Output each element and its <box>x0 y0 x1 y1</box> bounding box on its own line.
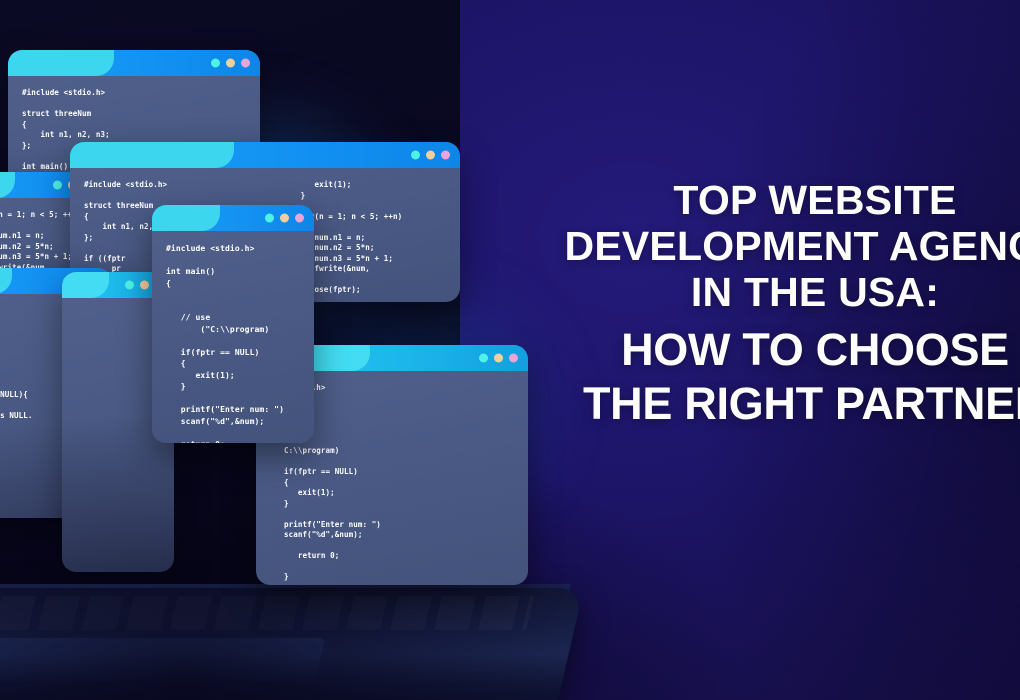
window-controls[interactable] <box>479 354 518 363</box>
window-titlebar[interactable] <box>152 205 314 231</box>
maximize-dot-icon[interactable] <box>441 151 450 160</box>
minimize-dot-icon[interactable] <box>140 281 149 290</box>
maximize-dot-icon[interactable] <box>241 59 250 68</box>
page-title: TOP WEBSITE DEVELOPMENT AGENCY IN THE US… <box>515 178 1020 430</box>
code-text: #include <stdio.h> int main() { // use (… <box>152 231 314 443</box>
headline-line-1: TOP WEBSITE <box>515 178 1020 224</box>
close-dot-icon[interactable] <box>125 281 134 290</box>
hero-banner: #include <stdio.h> struct threeNum { int… <box>0 0 1020 700</box>
close-dot-icon[interactable] <box>479 354 488 363</box>
laptop-trackpad <box>0 638 325 682</box>
minimize-dot-icon[interactable] <box>226 59 235 68</box>
window-controls[interactable] <box>211 59 250 68</box>
minimize-dot-icon[interactable] <box>280 214 289 223</box>
close-dot-icon[interactable] <box>265 214 274 223</box>
laptop-keyboard <box>0 596 534 630</box>
window-controls[interactable] <box>265 214 304 223</box>
code-window-foreground-main[interactable]: #include <stdio.h> int main() { // use (… <box>152 205 314 443</box>
headline-line-2: DEVELOPMENT AGENCY <box>515 224 1020 270</box>
window-controls[interactable] <box>411 151 450 160</box>
minimize-dot-icon[interactable] <box>494 354 503 363</box>
minimize-dot-icon[interactable] <box>426 151 435 160</box>
headline-line-4: HOW TO CHOOSE <box>515 325 1020 375</box>
maximize-dot-icon[interactable] <box>295 214 304 223</box>
headline-line-5: THE RIGHT PARTNER <box>515 379 1020 429</box>
close-dot-icon[interactable] <box>211 59 220 68</box>
headline-line-3: IN THE USA: <box>515 270 1020 316</box>
close-dot-icon[interactable] <box>53 181 62 190</box>
window-titlebar[interactable] <box>70 142 460 168</box>
window-titlebar[interactable] <box>8 50 260 76</box>
close-dot-icon[interactable] <box>411 151 420 160</box>
